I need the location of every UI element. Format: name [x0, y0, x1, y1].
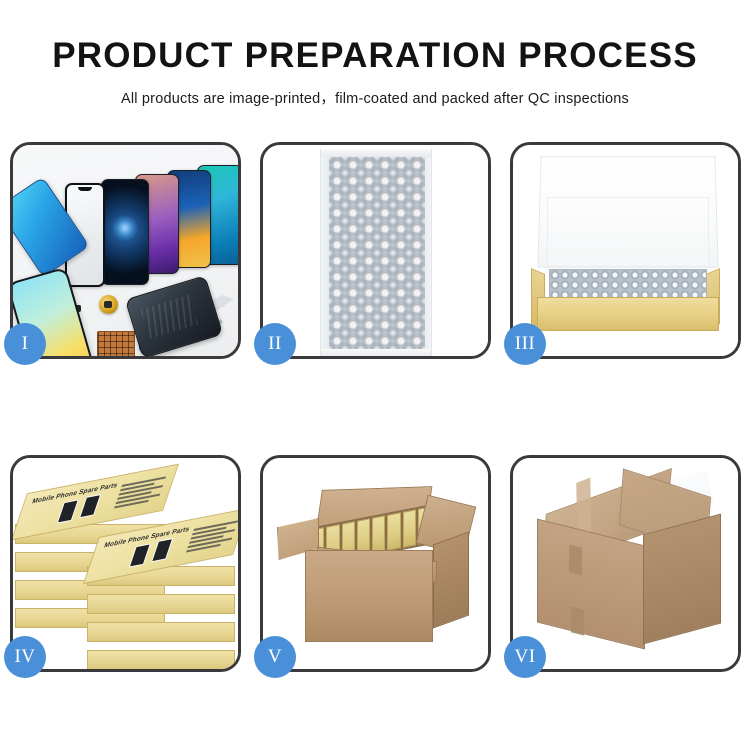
- phone-parts-panel: [13, 145, 238, 356]
- speaker-coil-icon: [99, 295, 118, 314]
- packed-box-icon: [387, 512, 400, 551]
- carton-side-face-icon: [433, 531, 469, 628]
- infographic-page: PRODUCT PREPARATION PROCESS All products…: [0, 0, 750, 750]
- tape-tab-icon: [571, 606, 584, 635]
- phone-screen-fan: [55, 161, 238, 281]
- step-badge-3: III: [504, 323, 546, 365]
- box-label-spec-lines: [113, 476, 166, 510]
- step-badge-5: V: [254, 636, 296, 678]
- phone-screen-dark-icon: [101, 179, 149, 285]
- step-panel-2: II: [260, 142, 491, 359]
- tape-tab-icon: [569, 544, 582, 575]
- phone-back-housing-icon: [125, 275, 223, 356]
- box-label-screen-icon: [129, 543, 151, 567]
- step-panel-5: V: [260, 455, 491, 672]
- step-badge-1: I: [4, 323, 46, 365]
- step-badge-6: VI: [504, 636, 546, 678]
- box-label-screen-icon: [151, 538, 173, 562]
- box-label-spec-lines: [185, 520, 238, 554]
- bubble-wrap-panel: [263, 145, 488, 356]
- packed-box-icon: [403, 509, 416, 548]
- packed-box-icon: [372, 515, 385, 554]
- pouch-seal-top: [321, 149, 431, 157]
- bubble-wrap-pouch: [320, 149, 432, 356]
- box-edge: [87, 622, 235, 642]
- step-badge-2: II: [254, 323, 296, 365]
- sealed-carton-panel: [513, 458, 738, 669]
- carton-front-face-icon: [305, 550, 433, 642]
- step-panel-6: VI: [510, 455, 741, 672]
- carton-right-face-icon: [643, 514, 721, 645]
- bubble-wrapped-contents-icon: [549, 269, 707, 299]
- pouch-seal-bottom: [321, 349, 431, 356]
- copper-mesh-icon: [97, 331, 135, 356]
- step-panel-4: Mobile Phone Spare Parts: [10, 455, 241, 672]
- open-carton-panel: [263, 458, 488, 669]
- page-subtitle: All products are image-printed，film-coat…: [0, 87, 750, 108]
- stacked-boxes-panel: Mobile Phone Spare Parts: [13, 458, 238, 669]
- box-stack: Mobile Phone Spare Parts: [13, 466, 238, 669]
- box-edge: [87, 594, 235, 614]
- header: PRODUCT PREPARATION PROCESS All products…: [0, 0, 750, 108]
- step-panel-3: III: [510, 142, 741, 359]
- step-badge-4: IV: [4, 636, 46, 678]
- inner-box-panel: [513, 145, 738, 356]
- box-edge: [87, 650, 235, 669]
- page-title: PRODUCT PREPARATION PROCESS: [0, 36, 750, 76]
- bubble-wrap-texture-icon: [329, 157, 425, 349]
- box-front-panel-icon: [537, 297, 719, 331]
- box-label-screen-icon: [79, 494, 101, 518]
- box-label-screen-icon: [57, 499, 79, 523]
- process-grid: I II III: [10, 142, 742, 672]
- step-panel-1: I: [10, 142, 241, 359]
- foam-insert-icon: [547, 197, 709, 267]
